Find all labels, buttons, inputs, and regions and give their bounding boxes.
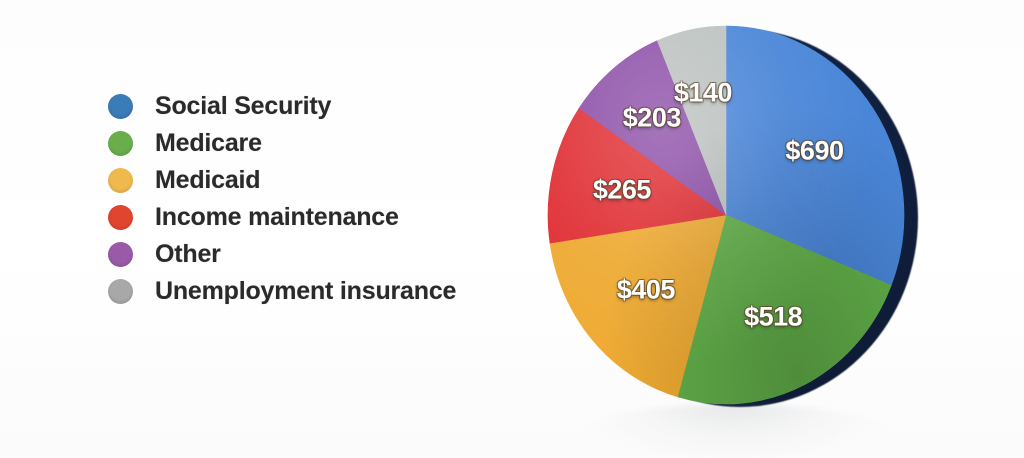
pie-reflection bbox=[584, 404, 884, 458]
legend-dot-icon bbox=[108, 205, 133, 230]
legend-item-medicaid[interactable]: Medicaid bbox=[108, 166, 456, 195]
legend-item-label: Medicaid bbox=[155, 166, 260, 195]
legend-dot-icon bbox=[108, 131, 133, 156]
legend-dot-icon bbox=[108, 168, 133, 193]
pie-slice-label: $265 bbox=[593, 174, 651, 205]
legend-item-label: Social Security bbox=[155, 92, 331, 121]
legend-item-label: Medicare bbox=[155, 129, 262, 158]
pie-slices bbox=[524, 12, 944, 412]
pie-chart: $690$518$405$265$203$140 bbox=[524, 12, 944, 412]
legend-item-social-security[interactable]: Social Security bbox=[108, 92, 456, 121]
chart-legend: Social Security Medicare Medicaid Income… bbox=[108, 92, 456, 306]
legend-dot-icon bbox=[108, 242, 133, 267]
legend-item-other[interactable]: Other bbox=[108, 240, 456, 269]
legend-item-label: Income maintenance bbox=[155, 203, 399, 232]
legend-item-unemployment-insurance[interactable]: Unemployment insurance bbox=[108, 277, 456, 306]
legend-item-income-maintenance[interactable]: Income maintenance bbox=[108, 203, 456, 232]
legend-item-label: Other bbox=[155, 240, 221, 269]
legend-item-label: Unemployment insurance bbox=[155, 277, 456, 306]
pie-slice-label: $405 bbox=[617, 274, 675, 305]
legend-dot-icon bbox=[108, 94, 133, 119]
pie-slice-label: $203 bbox=[623, 103, 681, 134]
pie-slice-label: $518 bbox=[744, 301, 802, 332]
pie-chart-figure: Social Security Medicare Medicaid Income… bbox=[0, 0, 1024, 458]
pie-slice-label: $140 bbox=[674, 77, 732, 108]
legend-item-medicare[interactable]: Medicare bbox=[108, 129, 456, 158]
legend-dot-icon bbox=[108, 279, 133, 304]
pie-slice-label: $690 bbox=[785, 136, 843, 167]
